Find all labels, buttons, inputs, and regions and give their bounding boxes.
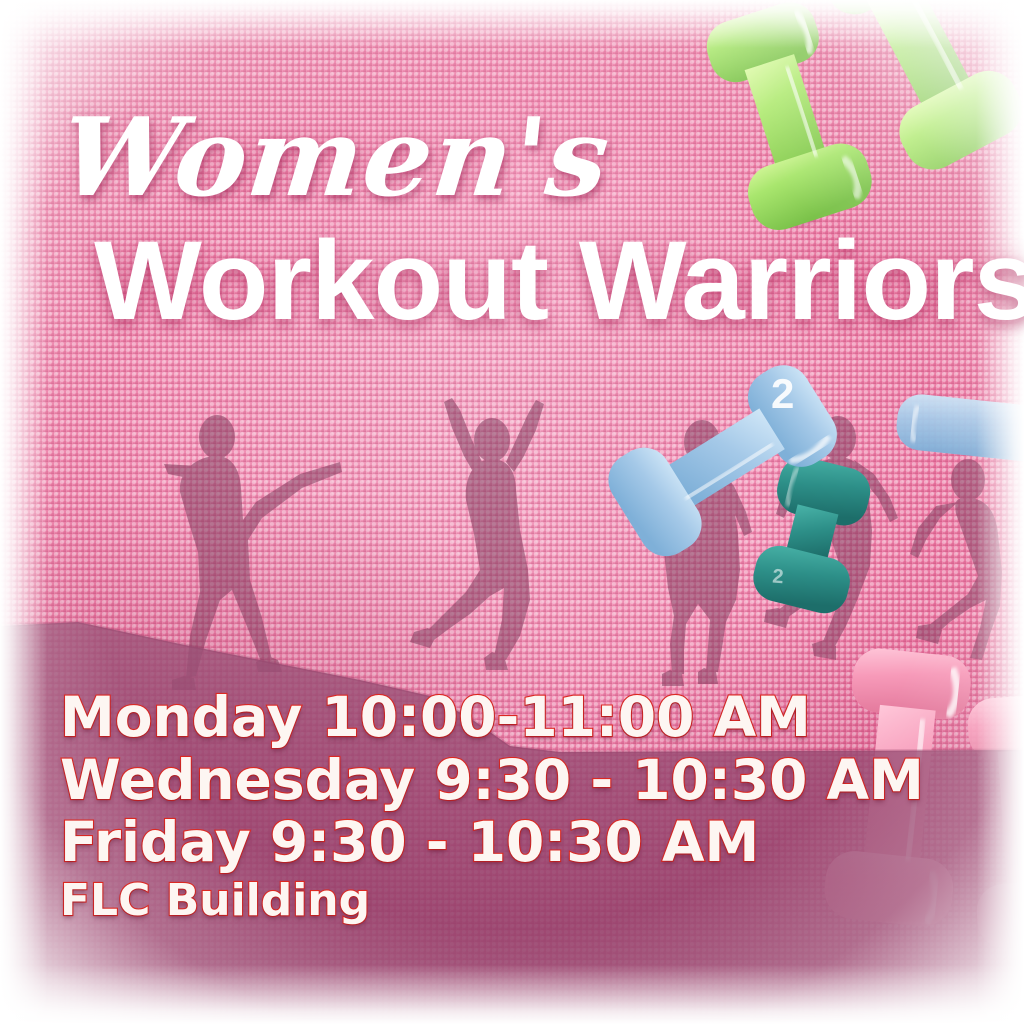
- poster-content: Women's Workout Warriors Monday 10:00-11…: [0, 0, 1024, 1024]
- schedule-line-wednesday: Wednesday 9:30 - 10:30 AM: [60, 749, 960, 812]
- schedule-line-monday: Monday 10:00-11:00 AM: [60, 686, 960, 749]
- script-title: Women's: [56, 104, 614, 212]
- location-line: FLC Building: [60, 876, 960, 926]
- page-title: Workout Warriors: [94, 224, 1024, 338]
- schedule-line-friday: Friday 9:30 - 10:30 AM: [60, 811, 960, 874]
- schedule-block: Monday 10:00-11:00 AM Wednesday 9:30 - 1…: [60, 686, 960, 926]
- poster: 2 2: [0, 0, 1024, 1024]
